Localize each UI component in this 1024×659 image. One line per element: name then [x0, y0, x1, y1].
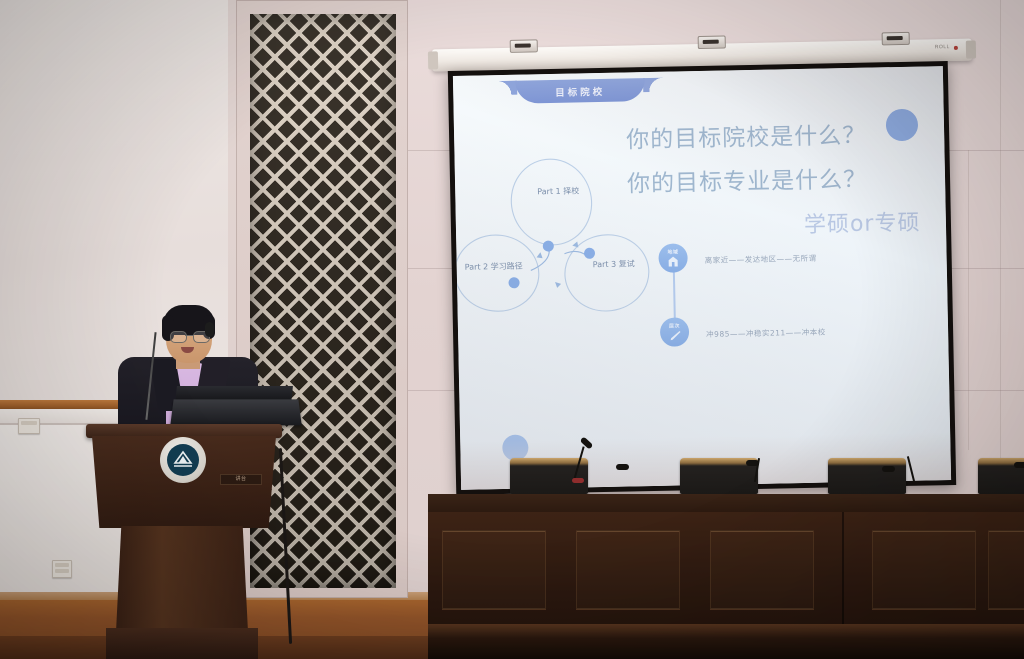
- part-label-2: Part 2 学习路径: [465, 261, 523, 273]
- presentation-slide: 目标院校 你的目标院校是什么？ 你的目标专业是什么？ 学硕or专硕: [453, 66, 951, 490]
- screen-mount-bracket: [510, 39, 538, 53]
- flow-loop-diagram: [455, 152, 679, 336]
- housing-label: ROLL: [935, 44, 950, 50]
- criteria-text-region: 离家近——发达地区——无所谓: [705, 253, 817, 266]
- lecture-hall-photo: ROLL 目标院校 你的目标院校是什么？ 你的目标专业是什么？ 学硕or专硕: [0, 0, 1024, 659]
- gooseneck-mic-head: [616, 464, 629, 470]
- criteria-text-level: 冲985——冲稳实211——冲本校: [706, 327, 826, 340]
- criteria-badge-level: 层次: [660, 317, 690, 347]
- screen-surface: 目标院校 你的目标院校是什么？ 你的目标专业是什么？ 学硕or专硕: [453, 66, 951, 490]
- table-panel: [988, 530, 1024, 610]
- conference-chair: [828, 458, 906, 494]
- screen-mount-bracket: [698, 36, 726, 50]
- university-crest: [160, 437, 206, 483]
- building-icon: [668, 256, 679, 266]
- podium-column: [116, 526, 248, 632]
- power-outlet[interactable]: [52, 560, 72, 578]
- decorative-lattice-screen: [250, 14, 396, 588]
- projection-screen: 目标院校 你的目标院校是什么？ 你的目标专业是什么？ 学硕or专硕: [448, 61, 956, 495]
- gooseneck-mic-head: [1014, 462, 1024, 468]
- light-switch[interactable]: [18, 418, 40, 434]
- podium-base: [106, 628, 258, 659]
- screen-mount-bracket: [882, 32, 910, 46]
- slide-heading-1: 你的目标院校是什么？: [626, 116, 867, 155]
- table-joint-seam: [842, 512, 844, 632]
- slide-heading-3: 学硕or专硕: [804, 205, 921, 239]
- podium-top: [86, 424, 282, 438]
- gooseneck-mic-head: [746, 460, 759, 466]
- tab-curve-right: [643, 78, 663, 92]
- table-panel: [576, 530, 680, 610]
- badge-label-level: 层次: [669, 324, 680, 329]
- glasses-bridge: [185, 335, 193, 336]
- crest-mountain-icon: [172, 450, 194, 470]
- criteria-badge-region: 地域: [658, 243, 688, 273]
- glasses-lens-left: [170, 331, 187, 343]
- table-panel: [710, 530, 814, 610]
- pen-icon: [669, 330, 681, 340]
- gooseneck-mic-head: [882, 466, 895, 472]
- gooseneck-mic-stem: [907, 456, 915, 482]
- conference-table-base: [428, 624, 1024, 659]
- decorative-dot-large: [886, 109, 919, 142]
- podium-nameplate-text: 讲台: [221, 475, 261, 483]
- part-label-3: Part 3 复试: [593, 258, 635, 270]
- laptop-on-podium[interactable]: [170, 399, 301, 425]
- podium-microphone-head: [205, 322, 214, 337]
- gooseneck-mic-base: [572, 478, 584, 483]
- table-panel: [872, 530, 976, 610]
- chair-row: [480, 458, 1024, 498]
- slide-tab-label: 目标院校: [555, 83, 605, 98]
- conference-table-top: [428, 494, 1024, 514]
- podium-nameplate: 讲台: [220, 474, 262, 485]
- conference-table-front: [428, 512, 1024, 632]
- slide-section-tab: 目标院校: [515, 78, 645, 104]
- table-panel: [442, 530, 546, 610]
- screen-status-led: [954, 46, 958, 50]
- part-label-1: Part 1 择校: [537, 185, 579, 197]
- badge-label-region: 地域: [667, 250, 678, 255]
